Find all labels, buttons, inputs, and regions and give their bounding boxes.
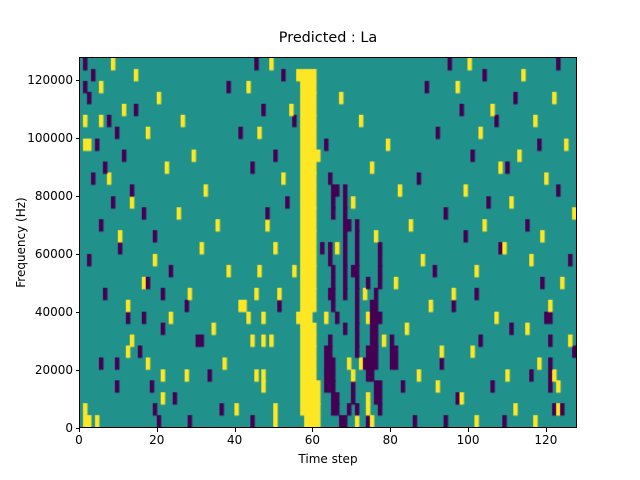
x-tick-mark	[312, 428, 313, 432]
y-tick-label: 40000	[35, 306, 73, 318]
y-axis-label: Frequency (Hz)	[14, 57, 28, 428]
y-tick-label: 100000	[27, 132, 73, 144]
x-tick-label: 60	[305, 434, 320, 446]
x-axis-label: Time step	[79, 452, 577, 466]
y-tick-label: 20000	[35, 364, 73, 376]
x-tick-mark	[468, 428, 469, 432]
x-tick-mark	[235, 428, 236, 432]
x-axis-ticks: 020406080100120	[79, 57, 577, 428]
x-tick-label: 120	[534, 434, 557, 446]
x-tick-mark	[390, 428, 391, 432]
y-tick-label: 80000	[35, 190, 73, 202]
x-tick-label: 80	[383, 434, 398, 446]
y-tick-label: 0	[65, 422, 73, 434]
y-tick-label: 60000	[35, 248, 73, 260]
y-axis-ticks: 020000400006000080000100000120000	[0, 57, 79, 428]
y-tick-label: 120000	[27, 74, 73, 86]
x-tick-mark	[546, 428, 547, 432]
x-tick-mark	[79, 428, 80, 432]
x-tick-label: 20	[149, 434, 164, 446]
chart-title: Predicted : La	[79, 30, 577, 46]
x-tick-mark	[157, 428, 158, 432]
x-tick-label: 100	[457, 434, 480, 446]
x-tick-label: 40	[227, 434, 242, 446]
matplotlib-figure: Predicted : La 0200004000060000800001000…	[0, 0, 640, 480]
x-tick-label: 0	[75, 434, 83, 446]
